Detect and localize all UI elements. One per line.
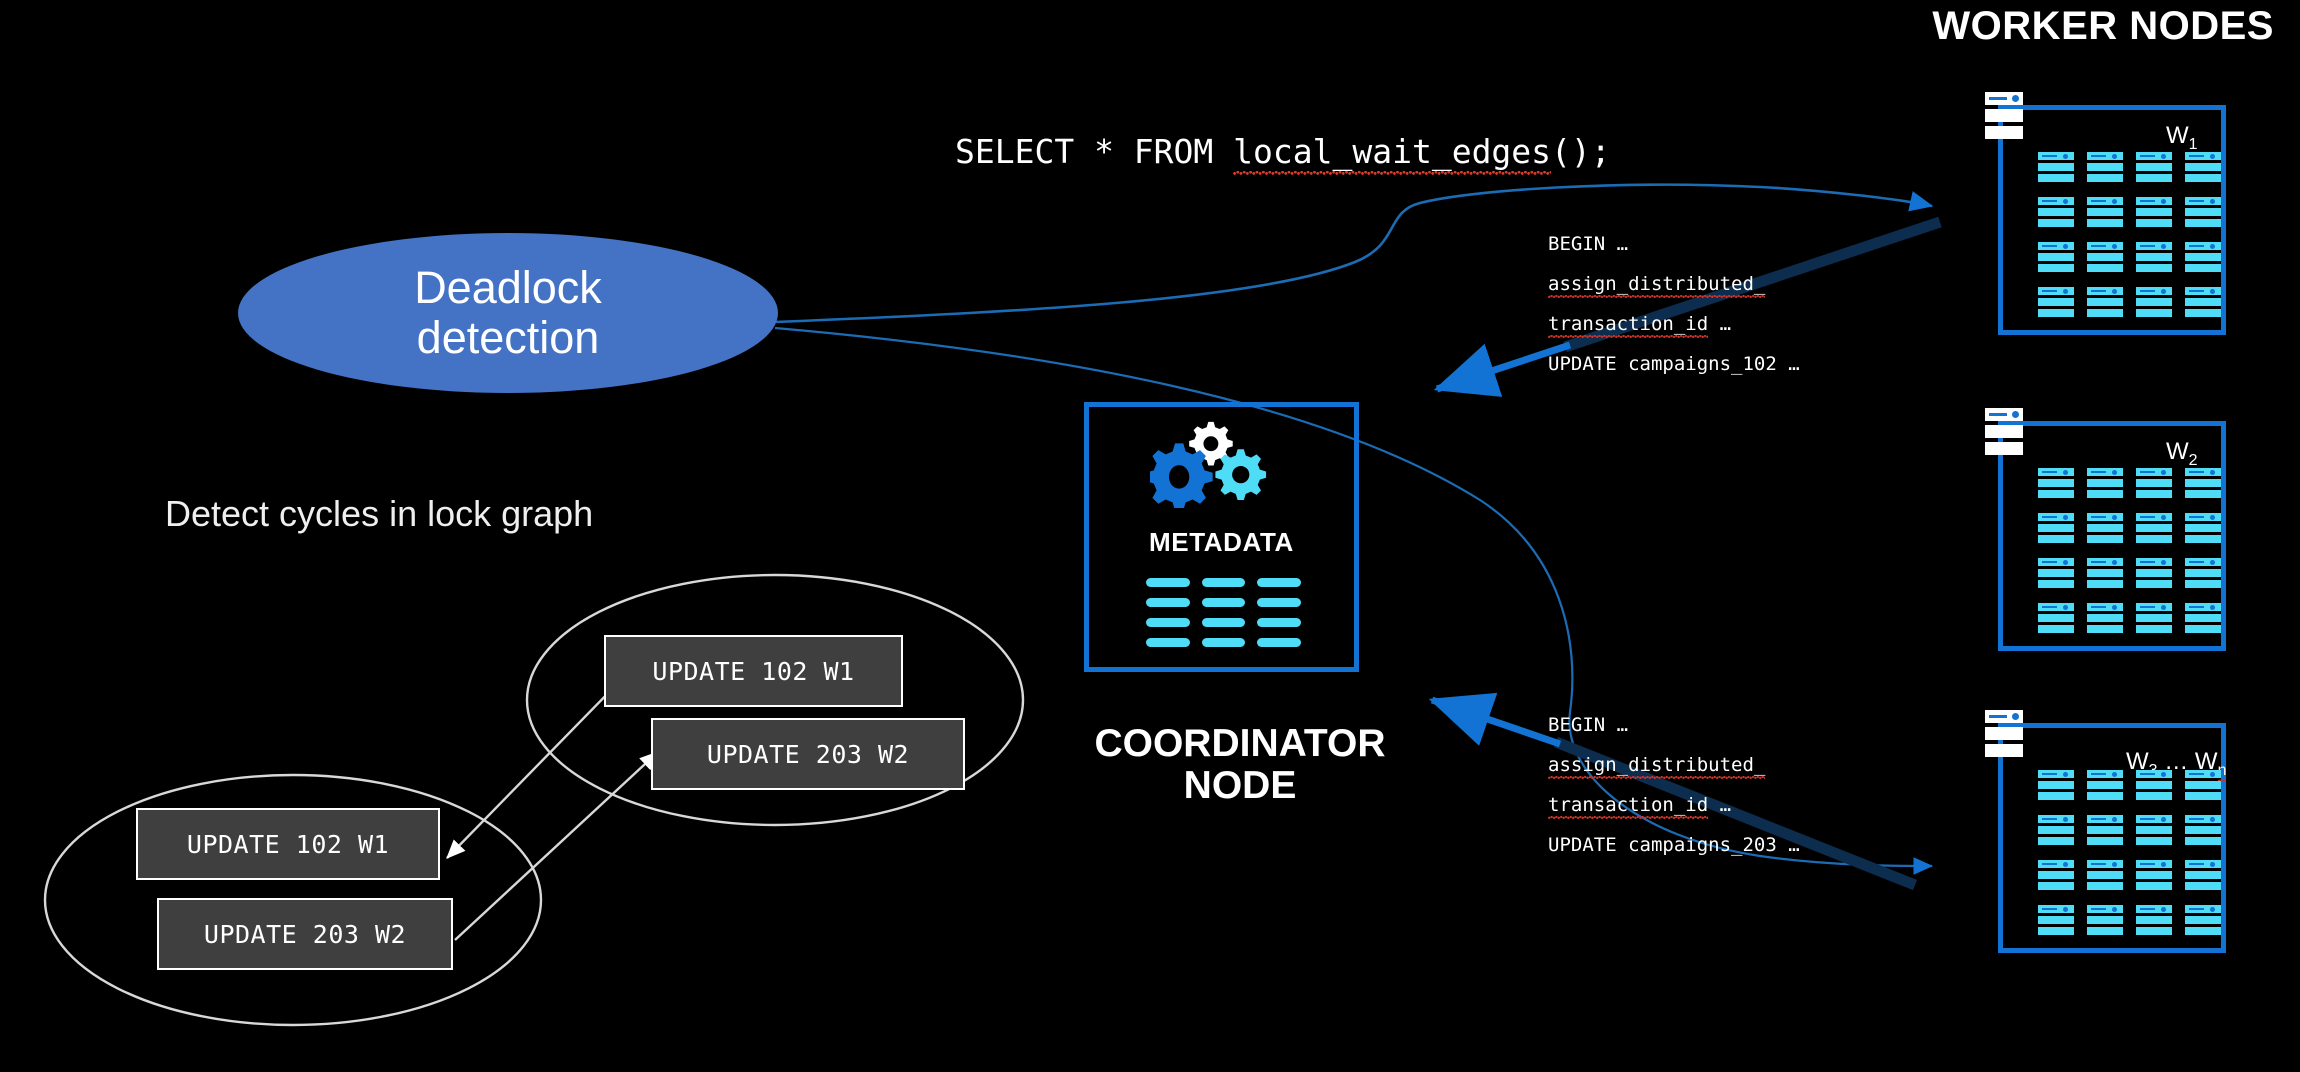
rack-dot [2112,817,2117,822]
rack-bar [2087,479,2123,487]
rack-icon [2087,905,2123,936]
rack-dot [2063,772,2068,777]
rack-icon [2087,152,2123,183]
rack-bar [2087,916,2123,924]
rack-bar [2038,264,2074,272]
rack-icon [2185,815,2221,846]
metadata-row [1146,618,1301,627]
rack-dot [2161,907,2166,912]
lock-graph-box: UPDATE 203 W2 [651,718,965,790]
rack-dot [2112,154,2117,159]
rack-bar [2185,614,2221,622]
rack-icon [2136,513,2172,544]
gear-cyan [1215,449,1266,500]
rack-bar [2087,569,2123,577]
rack-line [2140,471,2155,473]
rack-line [2091,908,2106,910]
rack-bar [2185,569,2221,577]
rack-line [2140,818,2155,820]
rack-dot [2210,560,2215,565]
rack-dot [2063,817,2068,822]
rack-dot [2063,199,2068,204]
rack-dot [2161,199,2166,204]
rack-dot [2161,772,2166,777]
rack-bar [2087,174,2123,182]
rack-dot [2063,470,2068,475]
rack-line [2140,516,2155,518]
rack-bar [2087,524,2123,532]
rack-bar [2136,826,2172,834]
rack-icon [2087,287,2123,318]
rack-bar [2038,479,2074,487]
rack-bar [2038,580,2074,588]
rack-icon [2087,558,2123,589]
server-icon-bar [1985,727,2023,740]
rack-bar [2136,837,2172,845]
rack-bar [2185,174,2221,182]
rack-bar [2038,298,2074,306]
rack-bar [2087,826,2123,834]
rack-dot [2210,907,2215,912]
rack-bar [2038,614,2074,622]
rack-bar [2136,882,2172,890]
rack-bar [2038,927,2074,935]
rack-line [2140,908,2155,910]
rack-bar [2185,490,2221,498]
rack-line [2189,818,2204,820]
code-line: transaction_id … [1548,785,1800,825]
rack-bar [2087,580,2123,588]
rack-icon [2087,468,2123,499]
rack-icon [2136,287,2172,318]
rack-line [2042,606,2057,608]
code-line: BEGIN … [1548,705,1800,745]
rack-dot [2063,560,2068,565]
rack-icon [2038,815,2074,846]
rack-bar [2136,490,2172,498]
rack-dot [2210,289,2215,294]
rack-dot [2063,862,2068,867]
metadata-row [1146,578,1301,587]
rack-bar [2087,208,2123,216]
metadata-row [1146,598,1301,607]
rack-icon [2185,603,2221,634]
sql-headline-prefix: SELECT * FROM [955,132,1233,171]
code-line-text: UPDATE campaigns_203 … [1548,834,1800,856]
metadata-cell [1202,618,1246,627]
rack-line [2189,471,2204,473]
rack-bar [2185,264,2221,272]
rack-dot [2210,605,2215,610]
code-block-lower: BEGIN … assign_distributed_ transaction_… [1548,705,1800,865]
rack-dot [2210,244,2215,249]
rack-icon [2185,860,2221,891]
deadlock-label-line2: detection [417,312,600,363]
rack-bar [2038,871,2074,879]
rack-bar [2185,927,2221,935]
metadata-cell [1257,598,1301,607]
rack-bar [2136,927,2172,935]
rack-grid-w3 [2038,770,2221,936]
rack-dot [2210,772,2215,777]
metadata-cell [1257,618,1301,627]
rack-icon [2038,558,2074,589]
rack-dot [2210,515,2215,520]
rack-dot [2063,244,2068,249]
rack-bar [2087,927,2123,935]
rack-grid-w2 [2038,468,2221,634]
rack-icon [2087,513,2123,544]
rack-bar [2136,614,2172,622]
rack-line [2042,245,2057,247]
server-icon-bar [1985,126,2023,139]
rack-bar [2038,916,2074,924]
rack-bar [2185,219,2221,227]
rack-line [2189,516,2204,518]
rack-bar [2185,781,2221,789]
sql-headline: SELECT * FROM local_wait_edges(); [955,132,1611,171]
code-line: assign_distributed_ [1548,745,1800,785]
arrow-w3-to-coordinator [1432,700,1560,744]
rack-line [2091,200,2106,202]
rack-bar [2185,253,2221,261]
rack-bar [2038,792,2074,800]
rack-bar [2038,309,2074,317]
rack-bar [2136,625,2172,633]
rack-dot [2112,907,2117,912]
metadata-cell [1257,578,1301,587]
metadata-cell [1202,578,1246,587]
rack-icon [2185,152,2221,183]
rack-bar [2038,524,2074,532]
rack-bar [2136,253,2172,261]
code-line-text: assign_distributed_ [1548,273,1765,298]
code-line: BEGIN … [1548,224,1800,264]
rack-icon [2087,242,2123,273]
rack-bar [2087,781,2123,789]
rack-bar [2038,781,2074,789]
rack-dot [2161,244,2166,249]
rack-line [2189,245,2204,247]
metadata-cell [1146,618,1190,627]
rack-bar [2136,781,2172,789]
rack-line [2140,155,2155,157]
rack-bar [2038,490,2074,498]
rack-bar [2136,871,2172,879]
rack-bar [2087,625,2123,633]
rack-bar [2087,253,2123,261]
rack-bar [2087,871,2123,879]
rack-line [2042,155,2057,157]
rack-dot [2063,605,2068,610]
rack-line [2091,471,2106,473]
rack-dot [2161,605,2166,610]
rack-bar [2087,264,2123,272]
rack-dot [2161,817,2166,822]
diagram-canvas: WORKER NODES SELECT * FROM local_wait_ed… [0,0,2300,1072]
rack-bar [2038,625,2074,633]
code-line-text: assign_distributed_ [1548,754,1765,779]
code-line-text: transaction_id [1548,794,1708,819]
worker-nodes-heading: WORKER NODES [1932,4,2274,49]
rack-line [2140,200,2155,202]
rack-line [2042,561,2057,563]
rack-icon [2038,513,2074,544]
rack-bar [2087,535,2123,543]
server-icon-line [1989,413,2007,416]
rack-icon [2087,815,2123,846]
rack-bar [2038,535,2074,543]
rack-icon [2038,468,2074,499]
rack-dot [2161,560,2166,565]
rack-icon [2136,468,2172,499]
rack-dot [2063,154,2068,159]
rack-bar [2136,792,2172,800]
rack-line [2091,516,2106,518]
server-icon-dot [2012,411,2019,418]
rack-bar [2185,916,2221,924]
code-line-trailing: … [1708,313,1731,335]
metadata-cell [1146,578,1190,587]
code-line-text: BEGIN … [1548,714,1628,736]
rack-dot [2063,515,2068,520]
rack-icon [2136,152,2172,183]
coordinator-heading-line2: NODE [1184,764,1297,807]
rack-icon [2185,905,2221,936]
rack-icon [2136,815,2172,846]
rack-bar [2185,535,2221,543]
rack-icon [2038,770,2074,801]
rack-icon [2038,287,2074,318]
rack-dot [2112,244,2117,249]
rack-bar [2087,309,2123,317]
rack-line [2189,908,2204,910]
rack-icon [2087,603,2123,634]
rack-icon [2185,513,2221,544]
rack-bar [2136,264,2172,272]
rack-icon [2136,558,2172,589]
worker-label-main: W [2166,122,2189,149]
gears-icon [1150,418,1290,508]
rack-bar [2038,208,2074,216]
metadata-cell [1202,598,1246,607]
rack-dot [2112,862,2117,867]
rack-dot [2210,862,2215,867]
rack-bar [2136,535,2172,543]
rack-dot [2210,199,2215,204]
rack-bar [2185,479,2221,487]
rack-bar [2136,208,2172,216]
rack-line [2091,290,2106,292]
code-line-trailing: … [1708,794,1731,816]
rack-bar [2087,163,2123,171]
rack-icon [2038,242,2074,273]
metadata-cell [1257,638,1301,647]
rack-line [2140,245,2155,247]
rack-bar [2136,524,2172,532]
rack-bar [2087,490,2123,498]
server-icon-bar [1985,744,2023,757]
rack-line [2091,863,2106,865]
rack-bar [2185,792,2221,800]
server-icon [1985,408,2023,456]
code-line-text: UPDATE campaigns_102 … [1548,353,1800,375]
worker-label-w2: W2 [2166,438,2198,470]
code-line-text: transaction_id [1548,313,1708,338]
rack-dot [2112,560,2117,565]
server-icon-bar [1985,442,2023,455]
rack-bar [2038,163,2074,171]
rack-icon [2087,860,2123,891]
worker-label-w1: W1 [2166,122,2198,154]
code-line: UPDATE campaigns_203 … [1548,825,1800,865]
rack-line [2189,561,2204,563]
deadlock-detection-ellipse: Deadlock detection [238,233,778,393]
rack-line [2189,773,2204,775]
rack-bar [2185,524,2221,532]
rack-line [2189,290,2204,292]
rack-dot [2112,289,2117,294]
rack-line [2091,606,2106,608]
rack-line [2140,561,2155,563]
rack-bar [2136,298,2172,306]
rack-icon [2087,770,2123,801]
rack-line [2140,773,2155,775]
rack-bar [2185,163,2221,171]
rack-bar [2136,479,2172,487]
rack-icon [2136,197,2172,228]
code-line: transaction_id … [1548,304,1800,344]
rack-line [2042,290,2057,292]
server-icon-dot [2012,95,2019,102]
rack-bar [2185,298,2221,306]
sql-headline-function: local_wait_edges [1233,132,1551,175]
worker-label-main: W [2166,438,2189,465]
rack-bar [2038,174,2074,182]
rack-line [2140,863,2155,865]
rack-line [2091,561,2106,563]
rack-bar [2136,309,2172,317]
rack-bar [2087,298,2123,306]
rack-line [2189,863,2204,865]
rack-dot [2112,515,2117,520]
rack-icon [2087,197,2123,228]
rack-line [2042,773,2057,775]
rack-bar [2136,569,2172,577]
rack-line [2189,155,2204,157]
rack-bar [2087,837,2123,845]
rack-dot [2112,605,2117,610]
rack-line [2042,471,2057,473]
metadata-cell [1202,638,1246,647]
rack-bar [2136,163,2172,171]
rack-icon [2038,152,2074,183]
lock-graph-box: UPDATE 102 W1 [136,808,440,880]
metadata-label: METADATA [1084,527,1359,558]
rack-bar [2185,882,2221,890]
server-icon-bar [1985,425,2023,438]
rack-bar [2038,569,2074,577]
rack-icon [2136,242,2172,273]
rack-bar [2087,219,2123,227]
worker-label-sub: 1 [2189,136,2198,153]
rack-bar [2185,837,2221,845]
rack-bar [2136,219,2172,227]
rack-dot [2112,470,2117,475]
code-line: assign_distributed_ [1548,264,1800,304]
rack-icon [2185,197,2221,228]
rack-line [2042,908,2057,910]
rack-bar [2087,614,2123,622]
detect-cycles-caption: Detect cycles in lock graph [165,493,593,535]
rack-line [2042,863,2057,865]
metadata-cell [1146,638,1190,647]
rack-bar [2136,916,2172,924]
rack-dot [2112,772,2117,777]
code-line: UPDATE campaigns_102 … [1548,344,1800,384]
server-icon-bar [1985,109,2023,122]
rack-bar [2185,625,2221,633]
code-block-upper: BEGIN … assign_distributed_ transaction_… [1548,224,1800,384]
rack-bar [2087,882,2123,890]
rack-bar [2185,871,2221,879]
rack-dot [2210,154,2215,159]
rack-line [2091,818,2106,820]
rack-icon [2038,905,2074,936]
rack-icon [2038,603,2074,634]
rack-dot [2161,862,2166,867]
rack-icon [2185,468,2221,499]
rack-icon [2038,197,2074,228]
rack-dot [2161,289,2166,294]
rack-line [2091,155,2106,157]
metadata-row [1146,638,1301,647]
rack-dot [2210,470,2215,475]
rack-icon [2038,860,2074,891]
lock-edge-left-to-right [455,752,658,940]
rack-bar [2185,309,2221,317]
rack-line [2189,200,2204,202]
metadata-rows [1146,578,1301,647]
rack-line [2091,773,2106,775]
coordinator-heading-line1: COORDINATOR [1094,722,1385,765]
server-icon [1985,710,2023,758]
rack-line [2189,606,2204,608]
rack-dot [2161,515,2166,520]
rack-line [2042,200,2057,202]
lock-graph-box: UPDATE 102 W1 [604,635,903,707]
rack-bar [2038,219,2074,227]
rack-bar [2185,826,2221,834]
rack-line [2140,606,2155,608]
rack-dot [2063,289,2068,294]
rack-dot [2112,199,2117,204]
rack-icon [2185,558,2221,589]
server-icon-line [1989,97,2007,100]
rack-dot [2210,817,2215,822]
server-icon-line [1989,715,2007,718]
rack-line [2042,516,2057,518]
rack-bar [2136,174,2172,182]
rack-dot [2063,907,2068,912]
rack-bar [2038,837,2074,845]
rack-bar [2185,580,2221,588]
rack-dot [2161,154,2166,159]
deadlock-label-line1: Deadlock [414,262,602,313]
rack-bar [2038,882,2074,890]
rack-grid-w1 [2038,152,2221,318]
deadlock-detection-label: Deadlock detection [414,263,602,364]
